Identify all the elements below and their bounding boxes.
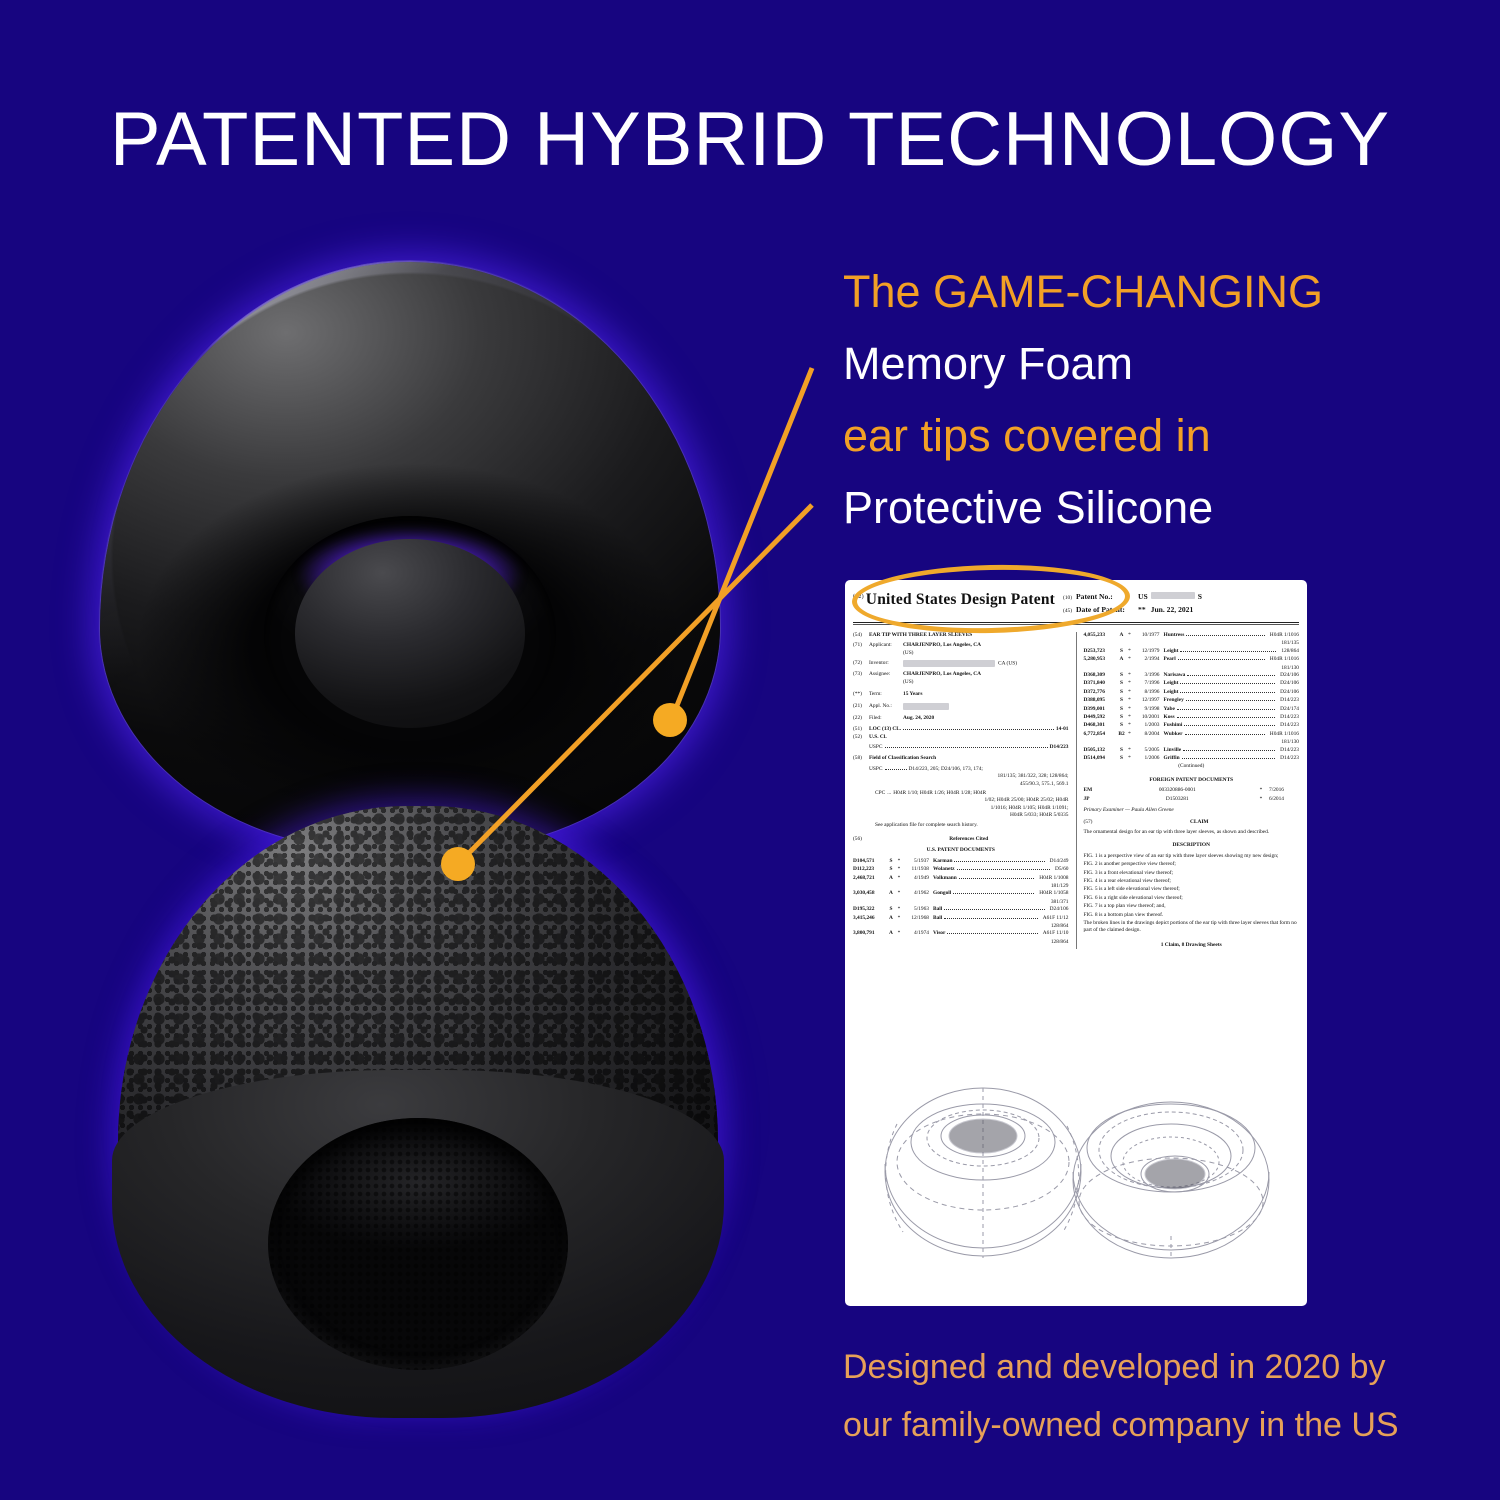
- fcs-uspc-dots: [885, 769, 907, 770]
- table-row: D104,571 S * 5/1937 Karman D14/249: [853, 858, 1069, 865]
- us-docs-title: U.S. PATENT DOCUMENTS: [853, 847, 1069, 854]
- loc-tag: (51): [853, 726, 869, 733]
- field-inventor: (72) Inventor: CA (US): [853, 660, 1069, 668]
- claims-sheets: 1 Claim, 8 Drawing Sheets: [1084, 942, 1300, 949]
- description-title: DESCRIPTION: [1084, 842, 1300, 849]
- field-filed: (22) Filed: Aug. 24, 2020: [853, 715, 1069, 722]
- figure-desc: FIG. 3 is a front elevational view there…: [1084, 870, 1300, 877]
- fcs-cpc-line-4: H04R 5/033; H04R 5/0335: [853, 812, 1069, 819]
- table-row: 3,415,246 A * 12/1968 Ball A61F 11/12: [853, 915, 1069, 922]
- figure-desc: FIG. 8 is a bottom plan view thereof.: [1084, 912, 1300, 919]
- applicant-label: Applicant:: [869, 642, 903, 657]
- uspc-value: D14/223: [1050, 744, 1069, 751]
- applicant-value: CHARJENPRO, Los Angeles, CA(US): [903, 642, 1069, 657]
- foam-bore: [268, 1118, 568, 1370]
- refs-title: References Cited: [869, 836, 1069, 843]
- table-row: JP D1503281 * 6/2014: [1084, 796, 1300, 803]
- loc-dots: [903, 729, 1054, 730]
- figure-desc: FIG. 7 is a top plan view thereof; and,: [1084, 903, 1300, 910]
- loc-value: 14-01: [1056, 726, 1069, 733]
- bottom-note: Designed and developed in 2020 by our fa…: [843, 1338, 1463, 1454]
- appl-no-redacted: [903, 703, 949, 710]
- patent-no-suffix: S: [1198, 591, 1202, 602]
- product-illustration: [30, 240, 820, 1450]
- inventor-value: CA (US): [903, 660, 1069, 668]
- fcs-cpc-line-3: 1/1016; H04R 1/105; H04R 1/1091;: [853, 805, 1069, 812]
- table-row: D368,309 S * 3/1996 Narisawa D24/106: [1084, 672, 1300, 679]
- inventor-label: Inventor:: [869, 660, 903, 668]
- field-loc: (51) LOC (13) CL. 14-01: [853, 726, 1069, 733]
- table-row: D112,223 S * 11/1938 Wolanetz D5/60: [853, 866, 1069, 873]
- bottom-line-2: our family-owned company in the US: [843, 1396, 1463, 1454]
- table-row: D468,301 S * 1/2003 Fushimi D14/223: [1084, 722, 1300, 729]
- table-row: D253,723 S * 12/1979 Leight 128/864: [1084, 648, 1300, 655]
- fcs-note: See application file for complete search…: [853, 822, 1069, 829]
- assignee-value: CHARJENPRO, Los Angeles, CA(US): [903, 671, 1069, 686]
- filed-value: Aug. 24, 2020: [903, 715, 1069, 722]
- patent-title-row: (54) EAR TIP WITH THREE LAYER SLEEVES: [853, 632, 1069, 639]
- table-row: D371,840 S * 7/1996 Leight D24/106: [1084, 680, 1300, 687]
- page-title: PATENTED HYBRID TECHNOLOGY: [0, 96, 1500, 183]
- table-row: D372,776 S * 8/1996 Leight D24/106: [1084, 689, 1300, 696]
- appl-no-label: Appl. No.:: [869, 703, 903, 711]
- field-uspc: USPC D14/223: [853, 744, 1069, 751]
- promo-graphic: PATENTED HYBRID TECHNOLOGY: [0, 0, 1500, 1500]
- loc-label: LOC (13) CL.: [869, 726, 901, 733]
- patent-title-tag: (54): [853, 632, 869, 639]
- us-docs-table-left: D104,571 S * 5/1937 Karman D14/249 D112,…: [853, 858, 1069, 946]
- fcs-tag: (58): [853, 755, 869, 762]
- figure-desc: FIG. 5 is a left side elevational view t…: [1084, 886, 1300, 893]
- inventor-location: CA (US): [998, 661, 1017, 667]
- claim-title: CLAIM: [1100, 819, 1300, 826]
- description-figures: FIG. 1 is a perspective view of an ear t…: [1084, 853, 1300, 935]
- table-row: D195,322 S * 5/1963 Ball D24/106: [853, 906, 1069, 913]
- applicant-country: (US): [903, 650, 913, 656]
- field-term: (**) Term: 15 Years: [853, 691, 1069, 698]
- fcs-uspc-label: USPC: [869, 766, 883, 773]
- examiner-label: Primary Examiner: [1084, 807, 1124, 813]
- figure-desc: FIG. 1 is a perspective view of an ear t…: [1084, 853, 1300, 860]
- callout-text-block: The GAME-CHANGING Memory Foam ear tips c…: [843, 256, 1443, 544]
- foam-bore-texture: [268, 1118, 568, 1370]
- table-row: 4,055,233 A * 10/1977 Huntress H04R 1/10…: [1084, 632, 1300, 639]
- callout-line-3: ear tips covered in: [843, 400, 1443, 472]
- table-row: 5,280,953 A * 2/1994 Pearl H04R 1/1016: [1084, 656, 1300, 663]
- uscl-tag: (52): [853, 734, 869, 741]
- uspc-dots: [885, 747, 1048, 748]
- figure-desc: FIG. 4 is a rear elevational view thereo…: [1084, 878, 1300, 885]
- examiner-name: Paula Allen Greene: [1131, 807, 1174, 813]
- assignee-tag: (73): [853, 671, 869, 686]
- table-row: D399,001 S * 9/1998 Yabe D24/174: [1084, 706, 1300, 713]
- primary-examiner: Primary Examiner — Paula Allen Greene: [1084, 807, 1300, 814]
- claim-header-row: (57) CLAIM: [1084, 819, 1300, 826]
- term-value: 15 Years: [903, 691, 1069, 698]
- table-row: 6,772,854 B2 * 8/2004 Wubker H04R 1/1016: [1084, 731, 1300, 738]
- date-mark: **: [1138, 604, 1146, 615]
- assignee-country: (US): [903, 679, 913, 685]
- patent-no-redacted: [1151, 592, 1195, 599]
- fcs-uspc-row: USPC D14/223, 205; D24/106, 173, 174;: [853, 766, 1069, 773]
- bottom-line-1: Designed and developed in 2020 by: [843, 1338, 1463, 1396]
- uscl-label: U.S. Cl.: [869, 734, 887, 741]
- applicant-company: CHARJENPRO, Los Angeles, CA: [903, 642, 981, 648]
- fcs-cpc-row: CPC ... H04R 1/10; H04R 1/26; H04R 1/28;…: [853, 790, 1069, 797]
- term-label: Term:: [869, 691, 903, 698]
- table-row: D388,095 S * 12/1997 Frengley D14/223: [1084, 697, 1300, 704]
- fcs-label: Field of Classification Search: [869, 755, 936, 762]
- claim-tag: (57): [1084, 819, 1100, 826]
- callout-line-2: Memory Foam: [843, 328, 1443, 400]
- memory-foam-ear-tip: [118, 806, 718, 1406]
- table-row: D449,592 S * 10/2001 Koss D14/223: [1084, 714, 1300, 721]
- figure-desc: FIG. 6 is a right side elevational view …: [1084, 895, 1300, 902]
- assignee-label: Assignee:: [869, 671, 903, 686]
- field-uscl: (52) U.S. Cl.: [853, 734, 1069, 741]
- fcs-cpc-dots: ...: [885, 790, 893, 797]
- date-value: Jun. 22, 2021: [1151, 604, 1194, 615]
- term-tag: (**): [853, 691, 869, 698]
- uspc-label: USPC: [869, 744, 883, 751]
- table-row: EM 003320886-0001 * 7/2016: [1084, 787, 1300, 794]
- refs-cited-row: (56) References Cited: [853, 836, 1069, 843]
- us-docs-table-right: 4,055,233 A * 10/1977 Huntress H04R 1/10…: [1084, 632, 1300, 771]
- table-row: 3,030,458 A * 4/1962 Gongoll H04R 1/1058: [853, 890, 1069, 897]
- fcs-uspc-line-1: D14/223, 205; D24/106, 173, 174;: [909, 766, 983, 773]
- assignee-company: CHARJENPRO, Los Angeles, CA: [903, 671, 981, 677]
- patent-drawings: [845, 1052, 1307, 1300]
- foreign-docs-title: FOREIGN PATENT DOCUMENTS: [1084, 777, 1300, 784]
- table-row: 3,800,791 A * 4/1974 Visor A61F 11/10: [853, 930, 1069, 937]
- appl-no-value: [903, 703, 1069, 711]
- broken-lines-note: The broken lines in the drawings depict …: [1084, 920, 1300, 935]
- patent-document: (12)United States Design Patent (10) Pat…: [845, 580, 1307, 1306]
- figure-desc: FIG. 2 is another perspective view there…: [1084, 861, 1300, 868]
- applicant-tag: (71): [853, 642, 869, 657]
- patent-no-prefix: US: [1138, 591, 1148, 602]
- fcs-cpc-line-2: 1/02; H04R 25/00; H04R 25/02; H04R: [853, 797, 1069, 804]
- patent-columns: (54) EAR TIP WITH THREE LAYER SLEEVES (7…: [845, 628, 1307, 949]
- claim-text: The ornamental design for an ear tip wit…: [1084, 829, 1300, 836]
- table-row: D505,132 S * 5/2005 Linville D14/223: [1084, 747, 1300, 754]
- field-applicant: (71) Applicant: CHARJENPRO, Los Angeles,…: [853, 642, 1069, 657]
- inventor-tag: (72): [853, 660, 869, 668]
- silicone-bore-inner: [295, 539, 524, 728]
- field-fcs: (58) Field of Classification Search: [853, 755, 1069, 762]
- patent-invention-title: EAR TIP WITH THREE LAYER SLEEVES: [869, 632, 1069, 639]
- table-row: 2,468,721 A * 4/1949 Volkmann H04R 1/100…: [853, 875, 1069, 882]
- patent-left-column: (54) EAR TIP WITH THREE LAYER SLEEVES (7…: [853, 632, 1069, 949]
- patent-right-column: 4,055,233 A * 10/1977 Huntress H04R 1/10…: [1076, 632, 1300, 949]
- field-appl-no: (21) Appl. No.:: [853, 703, 1069, 711]
- fcs-uspc-line-2: 181/135; 381/322, 328; 128/864;: [853, 773, 1069, 780]
- refs-tag: (56): [853, 836, 869, 843]
- inventor-redacted: [903, 660, 995, 667]
- continued-note: (Continued): [1084, 763, 1300, 770]
- silicone-ear-tip-sleeve: [100, 262, 720, 852]
- fcs-uspc-line-3: 455/90.3, 575.1, 569.1: [853, 781, 1069, 788]
- callout-line-1: The GAME-CHANGING: [843, 256, 1443, 328]
- table-row: D514,094 S * 1/2006 Griffin D14/223: [1084, 755, 1300, 762]
- appl-no-tag: (21): [853, 703, 869, 711]
- callout-line-4: Protective Silicone: [843, 472, 1443, 544]
- fcs-cpc-line-1: H04R 1/10; H04R 1/26; H04R 1/28; H04R: [893, 790, 986, 797]
- filed-tag: (22): [853, 715, 869, 722]
- field-assignee: (73) Assignee: CHARJENPRO, Los Angeles, …: [853, 671, 1069, 686]
- fcs-cpc-label: CPC: [875, 790, 885, 797]
- filed-label: Filed:: [869, 715, 903, 722]
